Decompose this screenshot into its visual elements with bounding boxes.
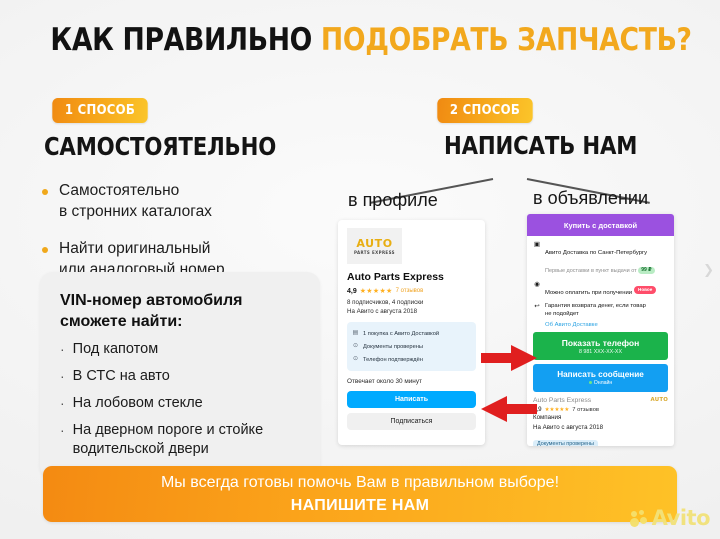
seller-name[interactable]: Auto Parts Express [533,397,591,404]
list-item: · Под капотом [60,340,300,359]
list-item-label: Телефон подтверждён [363,357,423,363]
cta-banner[interactable]: Мы всегда готовы помочь Вам в правильном… [43,466,677,522]
delivery-truck-icon: ▣ [533,241,541,249]
new-badge: Новое [634,286,656,294]
list-item-label: Авито Доставка по Санкт-Петербургу [545,250,647,256]
avito-wordmark: Avito [652,508,710,529]
list-item: ⊙ Документы проверены [352,340,471,353]
advert-screenshot-card: Купить с доставкой ▣ Авито Доставка по С… [527,214,674,446]
star-rating-icon: ★★★★★ [360,287,393,295]
list-item-label: Гарантия возврата денег, если товар не п… [545,303,646,318]
vin-card-title: VIN-номер автомобиля сможете найти: [60,290,300,332]
list-item: ◉ Можно оплатить при полученииНовое [533,281,668,299]
bullet-dot-icon [42,247,48,253]
shop-logo-subtext: PARTS EXPRESS [354,250,395,255]
chevron-right-icon: ❯ [703,262,714,278]
online-status: Онлайн [589,380,613,386]
write-message-label: Написать сообщение [557,370,644,379]
page-title: КАК ПРАВИЛЬНО ПОДОБРАТЬ ЗАПЧАСТЬ? [50,22,669,58]
list-item: · В СТС на авто [60,367,300,386]
list-item-subtext: Первые доставки в пункт выдачи от 99 ₽ [545,268,655,274]
list-item-label: В СТС на авто [73,367,170,386]
shop-avatar: AUTO PARTS EXPRESS [347,228,402,264]
method-two-badge: 2 СПОСОБ [437,98,532,123]
vin-info-card: VIN-номер автомобиля сможете найти: · По… [40,272,320,479]
avito-dots-icon [630,510,648,528]
bullet-marker-icon: · [60,367,65,386]
list-item-content: Авито Доставка по Санкт-Петербургу Первы… [545,241,668,277]
star-rating-icon: ★★★★★ [545,407,570,413]
bullet-marker-icon: · [60,340,65,359]
avito-watermark: Avito [630,508,710,529]
list-item: ⊙ Телефон подтверждён [352,353,471,366]
shop-name: Auto Parts Express [347,271,476,283]
seller-reviews-link[interactable]: 7 отзывов [572,407,599,413]
bullet-dot-icon [42,189,48,195]
delivery-box-icon: ▤ [352,330,359,337]
list-item-label: Самостоятельно в стронних каталогах [59,180,212,222]
wallet-icon: ◉ [533,281,541,289]
show-phone-button[interactable]: Показать телефон 8 981 XXX-XX-XX [533,332,668,360]
list-item-label: На лобовом стекле [73,394,203,413]
subsection-label-profile: в профиле [348,190,438,211]
advert-card-body: ▣ Авито Доставка по Санкт-Петербургу Пер… [527,236,674,446]
list-item-label: 1 покупка с Авито Доставкой [363,331,439,337]
subtext-label: Первые доставки в пункт выдачи от [545,268,637,274]
method-one-title: САМОСТОЯТЕЛЬНО [44,132,276,161]
list-item-content: Можно оплатить при полученииНовое [545,281,656,299]
profile-features-list: ▤ 1 покупка с Авито Доставкой ⊙ Документ… [347,322,476,371]
return-arrow-icon: ↩ [533,303,541,311]
list-item-label: Документы проверены [363,344,423,350]
list-item: ▤ 1 покупка с Авито Доставкой [352,327,471,340]
bullet-marker-icon: · [60,394,65,413]
write-button[interactable]: Написать [347,391,476,408]
rating-row: 4,9 ★★★★★ 7 отзывов [347,287,476,295]
cta-line-two: НАПИШИТЕ НАМ [291,496,429,516]
phone-number-masked: 8 981 XXX-XX-XX [579,349,622,355]
seller-type: Компания [533,414,668,423]
list-item: ↩ Гарантия возврата денег, если товар не… [533,303,668,318]
poster-canvas: КАК ПРАВИЛЬНО ПОДОБРАТЬ ЗАПЧАСТЬ? 1 СПОС… [0,0,720,539]
write-message-button[interactable]: Написать сообщение Онлайн [533,364,668,392]
reviews-link[interactable]: 7 отзывов [396,288,424,294]
list-item-label: Под капотом [73,340,159,359]
method-one-badge: 1 СПОСОБ [52,98,147,123]
check-circle-icon: ⊙ [352,343,359,350]
profile-screenshot-card: AUTO PARTS EXPRESS Auto Parts Express 4,… [338,220,485,445]
check-circle-icon: ⊙ [352,356,359,363]
list-item: Самостоятельно в стронних каталогах [42,180,312,222]
online-dot-icon [589,381,592,384]
about-delivery-link[interactable]: Об Авито Доставке [545,322,668,328]
bullet-marker-icon: · [60,421,65,440]
buy-with-delivery-button[interactable]: Купить с доставкой [527,214,674,236]
list-item: ▣ Авито Доставка по Санкт-Петербургу Пер… [533,241,668,277]
cta-line-one: Мы всегда готовы помочь Вам в правильном… [161,473,559,493]
shop-logo-text: AUTO [356,238,392,249]
red-arrow-right-icon [481,345,537,371]
rating-value: 4,9 [347,288,357,295]
show-phone-label: Показать телефон [562,338,640,348]
list-item: · На лобовом стекле [60,394,300,413]
member-since: На Авито с августа 2018 [347,307,476,316]
list-item-label: Можно оплатить при получении [545,290,632,296]
page-title-gold: ПОДОБРАТЬ ЗАПЧАСТЬ? [321,22,692,58]
subscribe-button[interactable]: Подписаться [347,413,476,430]
list-item: · На дверном пороге и стойке водительско… [60,421,300,459]
followers-count: 8 подписчиков, 4 подписки [347,298,476,307]
page-title-dark: КАК ПРАВИЛЬНО [50,22,312,58]
subsection-label-advert: в объявлении [533,188,648,209]
answer-time-text: Отвечает около 30 минут [347,378,476,385]
price-badge: 99 ₽ [638,267,654,274]
method-two-title: НАПИСАТЬ НАМ [444,131,637,160]
status-badge: Документы проверены [533,440,598,446]
seller-logo-icon: AUTO [651,397,668,403]
red-arrow-left-icon [481,396,537,422]
seller-member-since: На Авито с августа 2018 [533,424,668,433]
online-status-label: Онлайн [594,380,613,386]
list-item-label: На дверном пороге и стойке водительской … [73,421,263,459]
seller-header: Auto Parts Express AUTO [533,397,668,404]
seller-rating-row: 4,9 ★★★★★ 7 отзывов [533,406,668,413]
